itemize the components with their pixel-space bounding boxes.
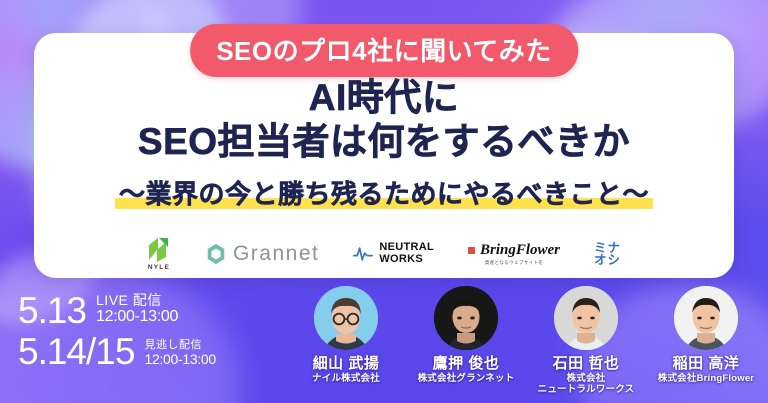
nyle-icon [147,237,171,262]
speaker-company: 株式会社BringFlower [650,373,762,384]
speaker-company: 株式会社 [530,373,642,384]
webinar-banner: SEOのプロ4社に聞いてみた AI時代に SEO担当者は何をするべきか 〜業界の… [0,0,768,403]
speaker-photo-1 [314,286,378,350]
title-line-2: SEO担当者は何をするべきか [0,122,768,162]
speaker-company-line2: ニュートラルワークス [530,384,642,395]
nyle-wordmark: NYLE [148,264,170,271]
avatar [554,286,618,350]
subtitle-wrap: 〜業界の今と勝ち残るためにやるべきこと〜 [119,174,649,211]
schedule-date-1: 5.13 [18,292,86,329]
schedule-label-2: 見逃し配信 [144,339,215,352]
speaker-name: 細山 武揚 [290,352,402,373]
neutral-works-wordmark: NEUTRAL WORKS [379,242,434,266]
logo-grannet: Grannet [205,242,319,266]
grannet-wordmark: Grannet [233,242,319,266]
speaker-company: 株式会社グランネット [410,373,522,384]
speaker-card: 石田 哲也 株式会社 ニュートラルワークス [530,286,642,396]
avatar [314,286,378,350]
subtitle: 〜業界の今と勝ち残るためにやるべきこと〜 [119,174,649,211]
speaker-list: 細山 武揚 ナイル株式会社 鷹押 俊也 株式会社グランネット [290,286,762,396]
minaoshi-wordmark: ミナ オシ [594,242,621,267]
speaker-company: ナイル株式会社 [290,373,402,384]
speaker-name: 稲田 高洋 [650,352,762,373]
schedule-time-1: 12:00-13:00 [96,308,178,326]
speaker-name: 石田 哲也 [530,352,642,373]
avatar [434,286,498,350]
headline-badge: SEOのプロ4社に聞いてみた [190,24,578,77]
speaker-photo-3 [554,286,618,350]
logo-minaoshi: ミナ オシ [594,242,621,267]
bringflower-square-icon [468,247,475,254]
schedule-time-2: 12:00-13:00 [144,351,215,367]
avatar [674,286,738,350]
schedule-label-1: LIVE 配信 [96,292,178,308]
logo-nyle: NYLE [147,237,171,271]
speaker-card: 鷹押 俊也 株式会社グランネット [410,286,522,396]
neutral-works-line-2: WORKS [379,254,434,266]
neutral-works-pulse-icon [353,245,373,263]
logo-neutral-works: NEUTRAL WORKS [353,242,434,266]
logo-bringflower: BringFlower 資産となるウェブサイトを [468,242,560,266]
sponsor-logo-row: NYLE Grannet NEUTRAL WORKS BringFlower [34,232,734,276]
speaker-photo-2 [434,286,498,350]
schedule-date-2: 5.14/15 [18,333,134,370]
speaker-photo-4 [674,286,738,350]
title-block: AI時代に SEO担当者は何をするべきか 〜業界の今と勝ち残るためにやるべきこと… [0,78,768,211]
bringflower-wordmark: BringFlower [480,242,560,259]
speaker-card: 稲田 高洋 株式会社BringFlower [650,286,762,396]
bringflower-tagline: 資産となるウェブサイトを [485,260,544,266]
schedule-row-live: 5.13 LIVE 配信 12:00-13:00 [18,292,216,329]
schedule-block: 5.13 LIVE 配信 12:00-13:00 5.14/15 見逃し配信 1… [18,292,216,374]
minaoshi-line-2: オシ [594,254,621,267]
schedule-row-archive: 5.14/15 見逃し配信 12:00-13:00 [18,333,216,370]
grannet-hexagon-icon [205,243,227,265]
title-line-1: AI時代に [0,78,768,118]
speaker-name: 鷹押 俊也 [410,352,522,373]
speaker-card: 細山 武揚 ナイル株式会社 [290,286,402,396]
